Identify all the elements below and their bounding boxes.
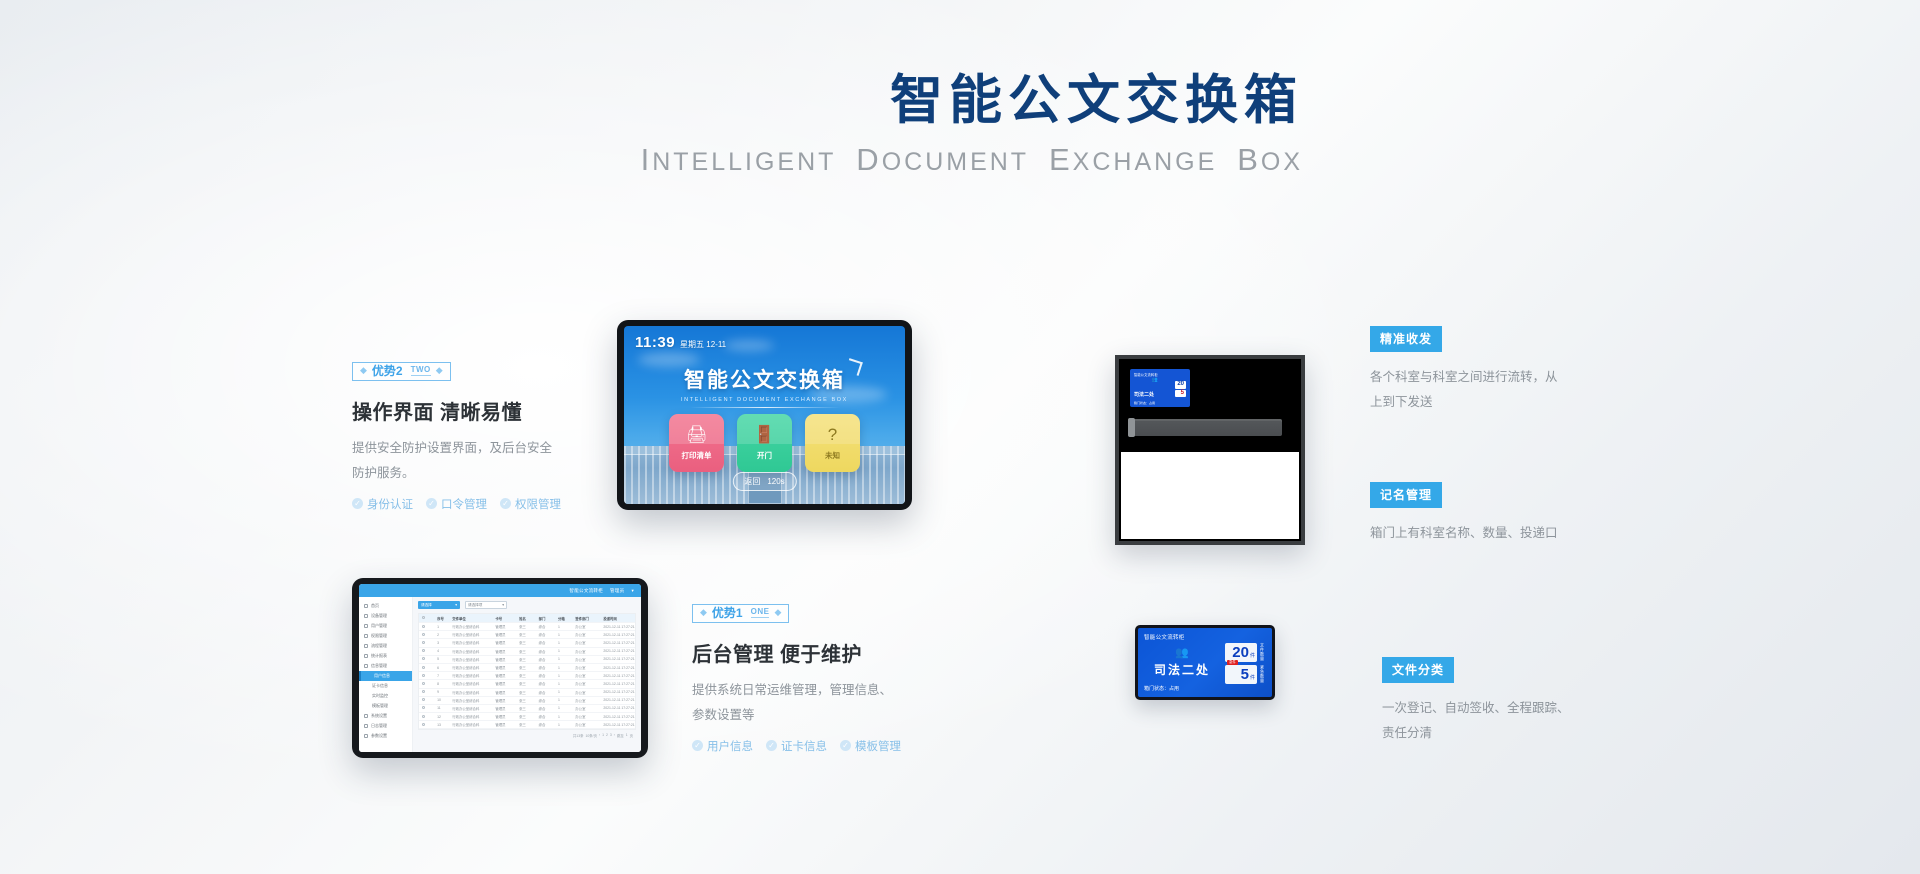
- divider: [690, 407, 840, 408]
- table-cell: 1: [555, 633, 572, 637]
- dashboard-sidebar-label: 设备管理: [371, 613, 387, 619]
- cabinet-label-closeup: 智能公文流转柜 👥 司法二处 20 件 文件数量 急件 5: [1135, 625, 1275, 700]
- advantage-paragraph-1: 提供系统日常运维管理，管理信息、参数设置等: [692, 678, 897, 728]
- label-dept: 司法二处: [1144, 661, 1220, 678]
- dashboard-sidebar-label: 模板管理: [372, 703, 388, 709]
- table-header-cell: 签件部门: [572, 616, 600, 621]
- dashboard-filter-select[interactable]: 请选择▾: [418, 601, 460, 609]
- menu-icon: [364, 664, 368, 668]
- cabinet-lower-door: [1121, 452, 1299, 539]
- question-icon: ?: [828, 426, 837, 443]
- table-header-cell: 交件单位: [449, 616, 492, 621]
- table-row[interactable]: 11行政办公室综合科管理员张三综合1办公室2021-12-11 17:27:21: [419, 705, 635, 713]
- table-cell: 行政办公室综合科: [449, 632, 492, 637]
- table-cell: 1: [555, 641, 572, 645]
- label-mid: 👥 司法二处 20 件 文件数量 急件 5 件 紧急数量: [1144, 641, 1266, 685]
- table-cell: 管理员: [492, 673, 516, 678]
- kiosk-card-unknown[interactable]: ? 未知: [805, 414, 860, 472]
- table-cell: 行政办公室综合科: [449, 624, 492, 629]
- table-cell: 管理员: [492, 657, 516, 662]
- users-icon: 👥: [1134, 377, 1175, 383]
- menu-icon: [364, 654, 368, 658]
- cabinet-upper-panel: 智能公文流转柜 👥 司法二处 20 5: [1119, 359, 1301, 452]
- table-cell: 1: [555, 690, 572, 694]
- table-cell: 2021-12-11 17:27:21: [600, 682, 635, 686]
- cabinet-eink-label: 智能公文流转柜 👥 司法二处 20 5: [1130, 369, 1190, 407]
- dashboard-sidebar-item[interactable]: 参数设置: [359, 731, 412, 741]
- dashboard-pagination[interactable]: 共13条10条/页‹123›跳至1页: [418, 730, 636, 738]
- table-cell: 办公室: [572, 640, 600, 645]
- advantage-chips-1: ✓ 用户信息 ✓ 证卡信息 ✓ 模板管理: [692, 738, 901, 754]
- table-cell: 行政办公室综合科: [449, 640, 492, 645]
- table-cell: 张三: [516, 722, 535, 727]
- table-cell: 办公室: [572, 722, 600, 727]
- table-cell: 综合: [536, 665, 555, 670]
- dashboard-sidebar-item[interactable]: 用户信息: [359, 671, 412, 681]
- table-row[interactable]: 3行政办公室综合科管理员张三综合1办公室2021-12-11 17:27:21: [419, 639, 635, 647]
- tag-dot-left: ◆: [700, 608, 707, 617]
- urgent-value: 5: [1181, 390, 1184, 396]
- dashboard-sidebar-label: 权限管理: [371, 633, 387, 639]
- menu-icon: [364, 634, 368, 638]
- table-row[interactable]: 2行政办公室综合科管理员张三综合1办公室2021-12-11 17:27:21: [419, 631, 635, 639]
- dashboard-sidebar-label: 统计报表: [371, 653, 387, 659]
- table-cell: 综合: [536, 624, 555, 629]
- table-row[interactable]: 12行政办公室综合科管理员张三综合1办公室2021-12-11 17:27:21: [419, 713, 635, 721]
- kiosk-card-label: 开门: [757, 450, 772, 461]
- table-cell: 3: [434, 641, 449, 645]
- advantage-tag-2: ◆ 优势2 TWO ◆: [352, 362, 451, 381]
- table-cell: 管理员: [492, 698, 516, 703]
- cabinet-label-dept-wrap: 👥 司法二处: [1134, 377, 1175, 401]
- kiosk-title: 智能公文交换箱: [624, 364, 905, 394]
- table-cell: 管理员: [492, 665, 516, 670]
- table-cell: 办公室: [572, 657, 600, 662]
- advantage-tag-1: ◆ 优势1 ONE ◆: [692, 604, 789, 623]
- label-doc-count-caption: 文件数量: [1258, 643, 1266, 662]
- table-cell: 5: [434, 657, 449, 661]
- table-cell: 1: [555, 723, 572, 727]
- advantage-tag-label: 优势1: [712, 607, 743, 619]
- cabinet-doc-count: 20: [1175, 381, 1186, 389]
- doc-count-unit: 件: [1250, 654, 1255, 659]
- filter-label: 请选择项: [468, 603, 482, 608]
- table-cell: 管理员: [492, 722, 516, 727]
- table-cell: 2021-12-11 17:27:21: [600, 706, 635, 710]
- chip-label: 模板管理: [855, 738, 901, 754]
- table-cell: 办公室: [572, 706, 600, 711]
- pagination-item[interactable]: 页: [630, 733, 633, 738]
- chip-identity-auth: ✓ 身份认证: [352, 496, 413, 512]
- pagination-item[interactable]: 跳至: [617, 733, 624, 738]
- cabinet-label-mid: 👥 司法二处 20 5: [1134, 377, 1186, 401]
- chip-label: 权限管理: [515, 496, 561, 512]
- feature-badge: 精准收发: [1370, 326, 1442, 352]
- table-cell: 行政办公室综合科: [449, 698, 492, 703]
- cabinet-body: 智能公文流转柜 👥 司法二处 20 5: [1119, 359, 1301, 541]
- dashboard-sidebar-item[interactable]: 实时监控: [359, 691, 412, 701]
- table-cell: 1: [555, 682, 572, 686]
- table-cell: 行政办公室综合科: [449, 690, 492, 695]
- table-cell: 12: [434, 715, 449, 719]
- table-cell: 张三: [516, 681, 535, 686]
- dashboard-sidebar-item[interactable]: 日志管理: [359, 721, 412, 731]
- pagination-item[interactable]: 2: [606, 733, 608, 738]
- page-subtitle: INTELLIGENT DOCUMENT EXCHANGE BOX: [641, 142, 1303, 178]
- table-cell: 行政办公室综合科: [449, 706, 492, 711]
- document-drop-slot: [1132, 419, 1282, 436]
- advantage-block-2: ◆ 优势2 TWO ◆ 操作界面 清晰易懂 提供安全防护设置界面，及后台安全防护…: [352, 360, 561, 512]
- table-cell: 办公室: [572, 632, 600, 637]
- pagination-item[interactable]: 10条/页: [585, 733, 597, 738]
- table-cell: 行政办公室综合科: [449, 673, 492, 678]
- chip-card-info: ✓ 证卡信息: [766, 738, 827, 754]
- kiosk-date-value: 星期五 12-11: [680, 339, 726, 350]
- dashboard-body: 首页设备管理用户管理权限管理流程管理统计报表信息管理用户信息证卡信息实时监控模板…: [359, 597, 641, 752]
- table-cell: 行政办公室综合科: [449, 714, 492, 719]
- table-cell: 管理员: [492, 649, 516, 654]
- table-cell: 1: [555, 625, 572, 629]
- table-row[interactable]: 7行政办公室综合科管理员张三综合1办公室2021-12-11 17:27:21: [419, 672, 635, 680]
- table-cell: 综合: [536, 640, 555, 645]
- table-cell: 2021-12-11 17:27:21: [600, 649, 635, 653]
- menu-icon: [364, 724, 368, 728]
- chevron-down-icon[interactable]: ▾: [631, 588, 634, 594]
- urgent-badge: 急件: [1227, 660, 1238, 665]
- table-cell: 2021-12-11 17:27:21: [600, 723, 635, 727]
- table-cell: 综合: [536, 722, 555, 727]
- chevron-down-icon: ▾: [502, 603, 504, 607]
- kiosk-branding: 智能公文交换箱 INTELLIGENT DOCUMENT EXCHANGE BO…: [624, 364, 905, 408]
- dashboard-filter-select[interactable]: 请选择项▾: [465, 601, 507, 609]
- table-header-row: 序号交件单位卡号姓名部门分箱签件部门投递时间: [419, 614, 635, 623]
- row-checkbox[interactable]: [419, 633, 434, 637]
- kiosk-subtitle: INTELLIGENT DOCUMENT EXCHANGE BOX: [624, 397, 905, 403]
- table-cell: 张三: [516, 673, 535, 678]
- table-cell: 综合: [536, 632, 555, 637]
- row-checkbox[interactable]: [419, 625, 434, 629]
- dashboard-sidebar-item[interactable]: 用户管理: [359, 621, 412, 631]
- table-cell: 管理员: [492, 624, 516, 629]
- dashboard-sidebar-item[interactable]: 首页: [359, 601, 412, 611]
- row-checkbox[interactable]: [419, 715, 434, 719]
- table-cell: 9: [434, 690, 449, 694]
- dashboard-tablet-mockup: 智能公文流转柜 管理员 ▾ 首页设备管理用户管理权限管理流程管理统计报表信息管理…: [352, 578, 648, 758]
- dashboard-sidebar-label: 用户管理: [371, 623, 387, 629]
- feature-badge: 记名管理: [1370, 482, 1442, 508]
- dashboard-sidebar-label: 用户信息: [374, 673, 390, 679]
- dashboard-sidebar-item[interactable]: 流程管理: [359, 641, 412, 651]
- table-cell: 6: [434, 666, 449, 670]
- label-urgent-count-box: 急件 5 件 紧急数量: [1225, 665, 1266, 684]
- menu-icon: [364, 734, 368, 738]
- advantage-chips-2: ✓ 身份认证 ✓ 口令管理 ✓ 权限管理: [352, 496, 561, 512]
- dashboard-sidebar-item[interactable]: 模板管理: [359, 701, 412, 711]
- dashboard-sidebar-item[interactable]: 证卡信息: [359, 681, 412, 691]
- menu-icon: [364, 714, 368, 718]
- table-cell: 2021-12-11 17:27:21: [600, 641, 635, 645]
- table-cell: 2021-12-11 17:27:21: [600, 657, 635, 661]
- label-title: 智能公文流转柜: [1144, 633, 1266, 641]
- dashboard-sidebar-item[interactable]: 系统设置: [359, 711, 412, 721]
- table-header-cell: 部门: [536, 616, 555, 621]
- feature-block-named-management: 记名管理 箱门上有科室名称、数量、投递口: [1370, 482, 1558, 546]
- table-cell: 办公室: [572, 673, 600, 678]
- kiosk-card-label: 未知: [825, 450, 840, 461]
- tag-dot-right: ◆: [436, 366, 443, 375]
- chevron-down-icon: ▾: [455, 603, 457, 607]
- kiosk-card-print-list[interactable]: 🖨 打印清单: [669, 414, 724, 472]
- table-cell: 综合: [536, 714, 555, 719]
- pagination-item[interactable]: 1: [626, 733, 628, 738]
- advantage-tag-en: ONE: [751, 608, 770, 618]
- tag-dot-left: ◆: [360, 366, 367, 375]
- dashboard-topbar: 智能公文流转柜 管理员 ▾: [359, 584, 641, 597]
- cabinet-label-dept: 司法二处: [1134, 392, 1154, 398]
- table-cell: 行政办公室综合科: [449, 649, 492, 654]
- table-row[interactable]: 6行政办公室综合科管理员张三综合1办公室2021-12-11 17:27:21: [419, 664, 635, 672]
- label-urgent-count-caption: 紧急数量: [1258, 665, 1266, 684]
- dashboard-sidebar-label: 系统设置: [371, 713, 387, 719]
- advantage-paragraph-2: 提供安全防护设置界面，及后台安全防护服务。: [352, 436, 557, 486]
- menu-icon: [364, 644, 368, 648]
- door-open-icon: 🚪: [754, 426, 775, 443]
- table-row[interactable]: 4行政办公室综合科管理员张三综合1办公室2021-12-11 17:27:21: [419, 648, 635, 656]
- table-cell: 1: [555, 666, 572, 670]
- row-checkbox[interactable]: [419, 706, 434, 710]
- table-cell: 4: [434, 649, 449, 653]
- chip-label: 证卡信息: [781, 738, 827, 754]
- kiosk-action-cards: 🖨 打印清单 🚪 开门 ? 未知: [624, 414, 905, 472]
- advantage-heading-1: 后台管理 便于维护: [692, 638, 901, 667]
- label-status: 箱门状态：占用: [1144, 685, 1266, 692]
- table-cell: 综合: [536, 657, 555, 662]
- table-cell: 行政办公室综合科: [449, 657, 492, 662]
- select-all-checkbox[interactable]: [419, 616, 434, 620]
- table-row[interactable]: 8行政办公室综合科管理员张三综合1办公室2021-12-11 17:27:21: [419, 680, 635, 688]
- table-cell: 2: [434, 633, 449, 637]
- check-icon: ✓: [426, 498, 437, 509]
- feature-block-precise-delivery: 精准收发 各个科室与科室之间进行流转，从上到下发送: [1370, 326, 1560, 415]
- dashboard-sidebar-label: 参数设置: [371, 733, 387, 739]
- advantage-tag-label: 优势2: [372, 365, 403, 377]
- urgent-count-unit: 件: [1250, 676, 1255, 681]
- doc-count-value: 20: [1232, 645, 1249, 660]
- pagination-item[interactable]: ‹: [599, 733, 600, 738]
- chip-user-info: ✓ 用户信息: [692, 738, 753, 754]
- kiosk-card-label: 打印清单: [682, 450, 712, 461]
- table-header-cell: 分箱: [555, 616, 572, 621]
- label-doc-count: 20 件: [1225, 643, 1257, 662]
- row-checkbox[interactable]: [419, 698, 434, 702]
- table-cell: 1: [555, 715, 572, 719]
- dashboard-sidebar-label: 证卡信息: [372, 683, 388, 689]
- table-cell: 张三: [516, 706, 535, 711]
- dashboard-sidebar-item[interactable]: 信息管理: [359, 661, 412, 671]
- cabinet-label-counters: 20 5: [1175, 381, 1186, 397]
- dashboard-table: 序号交件单位卡号姓名部门分箱签件部门投递时间1行政办公室综合科管理员张三综合1办…: [418, 613, 636, 730]
- row-checkbox[interactable]: [419, 690, 434, 694]
- menu-icon: [364, 604, 368, 608]
- label-counters: 20 件 文件数量 急件 5 件 紧急数量: [1225, 643, 1266, 684]
- tag-dot-right: ◆: [774, 608, 781, 617]
- table-cell: 8: [434, 682, 449, 686]
- feature-text: 一次登记、自动签收、全程跟踪、责任分清: [1382, 696, 1572, 746]
- kiosk-screen: 11:39 星期五 12-11 智能公文交换箱 INTELLIGENT DOCU…: [624, 326, 905, 504]
- table-cell: 管理员: [492, 714, 516, 719]
- table-cell: 张三: [516, 657, 535, 662]
- table-cell: 张三: [516, 632, 535, 637]
- table-row[interactable]: 1行政办公室综合科管理员张三综合1办公室2021-12-11 17:27:21: [419, 623, 635, 631]
- dashboard-app-title: 智能公文流转柜: [569, 588, 603, 594]
- table-cell: 办公室: [572, 714, 600, 719]
- dashboard-sidebar-label: 流程管理: [371, 643, 387, 649]
- printer-icon: 🖨: [686, 426, 708, 443]
- pagination-item[interactable]: 共13条: [573, 733, 584, 738]
- page-title: 智能公文交换箱: [641, 73, 1303, 129]
- table-row[interactable]: 13行政办公室综合科管理员张三综合1办公室2021-12-11 17:27:21: [419, 721, 635, 729]
- table-cell: 综合: [536, 681, 555, 686]
- table-cell: 2021-12-11 17:27:21: [600, 698, 635, 702]
- table-cell: 11: [434, 706, 449, 710]
- dashboard-sidebar-label: 日志管理: [371, 723, 387, 729]
- count-value: 20: [1177, 381, 1184, 387]
- table-cell: 1: [555, 649, 572, 653]
- check-icon: ✓: [500, 498, 511, 509]
- row-checkbox[interactable]: [419, 657, 434, 661]
- table-cell: 行政办公室综合科: [449, 665, 492, 670]
- poster-canvas: 智能公文交换箱 INTELLIGENT DOCUMENT EXCHANGE BO…: [0, 0, 1920, 874]
- row-checkbox[interactable]: [419, 674, 434, 678]
- cloud-shape: [724, 340, 774, 351]
- chip-template-mgmt: ✓ 模板管理: [840, 738, 901, 754]
- advantage-heading-2: 操作界面 清晰易懂: [352, 396, 561, 425]
- check-icon: ✓: [840, 740, 851, 751]
- table-cell: 办公室: [572, 665, 600, 670]
- dashboard-screen: 智能公文流转柜 管理员 ▾ 首页设备管理用户管理权限管理流程管理统计报表信息管理…: [359, 584, 641, 752]
- table-cell: 张三: [516, 714, 535, 719]
- check-icon: ✓: [352, 498, 363, 509]
- kiosk-back-button[interactable]: 返回 120s: [732, 472, 796, 491]
- cabinet-urgent-count: 5: [1175, 390, 1186, 398]
- kiosk-time-value: 11:39: [635, 334, 675, 351]
- table-row[interactable]: 9行政办公室综合科管理员张三综合1办公室2021-12-11 17:27:21: [419, 689, 635, 697]
- feature-badge: 文件分类: [1382, 657, 1454, 683]
- table-cell: 1: [555, 698, 572, 702]
- dashboard-sidebar-label: 首页: [371, 603, 379, 609]
- cabinet-label-status: 箱门状态：占用: [1134, 401, 1186, 405]
- dashboard-sidebar: 首页设备管理用户管理权限管理流程管理统计报表信息管理用户信息证卡信息实时监控模板…: [359, 597, 413, 752]
- table-cell: 办公室: [572, 698, 600, 703]
- menu-icon: [364, 614, 368, 618]
- pagination-item[interactable]: ›: [614, 733, 615, 738]
- table-cell: 综合: [536, 690, 555, 695]
- kiosk-tablet-mockup: 11:39 星期五 12-11 智能公文交换箱 INTELLIGENT DOCU…: [617, 320, 912, 510]
- dashboard-sidebar-label: 信息管理: [371, 663, 387, 669]
- check-icon: ✓: [692, 740, 703, 751]
- table-cell: 1: [555, 706, 572, 710]
- table-cell: 管理员: [492, 632, 516, 637]
- check-icon: ✓: [766, 740, 777, 751]
- table-cell: 2021-12-11 17:27:21: [600, 625, 635, 629]
- table-header-cell: 姓名: [516, 616, 535, 621]
- table-cell: 办公室: [572, 681, 600, 686]
- label-urgent-count: 5 件: [1225, 665, 1257, 684]
- table-cell: 1: [555, 657, 572, 661]
- feature-block-file-classification: 文件分类 一次登记、自动签收、全程跟踪、责任分清: [1382, 657, 1572, 746]
- table-cell: 办公室: [572, 649, 600, 654]
- filter-label: 请选择: [421, 603, 432, 608]
- dashboard-sidebar-label: 实时监控: [372, 693, 388, 699]
- table-cell: 1: [555, 674, 572, 678]
- table-cell: 管理员: [492, 681, 516, 686]
- table-row[interactable]: 5行政办公室综合科管理员张三综合1办公室2021-12-11 17:27:21: [419, 656, 635, 664]
- table-cell: 综合: [536, 673, 555, 678]
- row-checkbox[interactable]: [419, 723, 434, 727]
- kiosk-card-open-door[interactable]: 🚪 开门: [737, 414, 792, 472]
- pagination-item[interactable]: 3: [610, 733, 612, 738]
- table-cell: 管理员: [492, 706, 516, 711]
- chip-permission-mgmt: ✓ 权限管理: [500, 496, 561, 512]
- label-doc-count-box: 20 件 文件数量: [1225, 643, 1266, 662]
- kiosk-back-label: 返回: [744, 476, 760, 487]
- table-header-cell: 投递时间: [600, 616, 635, 621]
- table-header-cell: 卡号: [492, 616, 516, 621]
- label-dept-block: 👥 司法二处: [1144, 648, 1220, 678]
- table-cell: 综合: [536, 706, 555, 711]
- dashboard-user-menu[interactable]: 管理员: [610, 588, 624, 594]
- table-cell: 张三: [516, 640, 535, 645]
- row-checkbox[interactable]: [419, 641, 434, 645]
- row-checkbox[interactable]: [419, 649, 434, 653]
- kiosk-clock: 11:39 星期五 12-11: [635, 334, 726, 351]
- chip-label: 身份认证: [367, 496, 413, 512]
- dashboard-sidebar-item[interactable]: 设备管理: [359, 611, 412, 621]
- advantage-tag-en: TWO: [411, 366, 431, 376]
- row-checkbox[interactable]: [419, 682, 434, 686]
- users-icon: 👥: [1144, 648, 1220, 659]
- table-cell: 张三: [516, 665, 535, 670]
- table-cell: 2021-12-11 17:27:21: [600, 690, 635, 694]
- table-cell: 行政办公室综合科: [449, 722, 492, 727]
- table-cell: 管理员: [492, 640, 516, 645]
- dashboard-sidebar-item[interactable]: 权限管理: [359, 631, 412, 641]
- chip-password-mgmt: ✓ 口令管理: [426, 496, 487, 512]
- urgent-count-value: 5: [1241, 667, 1249, 682]
- table-header-cell: 序号: [434, 616, 449, 621]
- table-cell: 13: [434, 723, 449, 727]
- table-cell: 行政办公室综合科: [449, 681, 492, 686]
- row-checkbox[interactable]: [419, 666, 434, 670]
- cabinet-device-photo: 智能公文流转柜 👥 司法二处 20 5: [1115, 355, 1305, 545]
- poster-header: 智能公文交换箱 INTELLIGENT DOCUMENT EXCHANGE BO…: [641, 73, 1303, 178]
- table-cell: 2021-12-11 17:27:21: [600, 666, 635, 670]
- chip-label: 口令管理: [441, 496, 487, 512]
- table-cell: 张三: [516, 690, 535, 695]
- pagination-item[interactable]: 1: [602, 733, 604, 738]
- table-cell: 综合: [536, 649, 555, 654]
- table-cell: 张三: [516, 624, 535, 629]
- dashboard-sidebar-item[interactable]: 统计报表: [359, 651, 412, 661]
- table-cell: 7: [434, 674, 449, 678]
- dashboard-main: 请选择▾请选择项▾ 序号交件单位卡号姓名部门分箱签件部门投递时间1行政办公室综合…: [413, 597, 641, 752]
- table-cell: 1: [434, 625, 449, 629]
- chip-label: 用户信息: [707, 738, 753, 754]
- table-row[interactable]: 10行政办公室综合科管理员张三综合1办公室2021-12-11 17:27:21: [419, 697, 635, 705]
- feature-text: 各个科室与科室之间进行流转，从上到下发送: [1370, 365, 1560, 415]
- dashboard-filters: 请选择▾请选择项▾: [418, 601, 636, 609]
- table-cell: 2021-12-11 17:27:21: [600, 633, 635, 637]
